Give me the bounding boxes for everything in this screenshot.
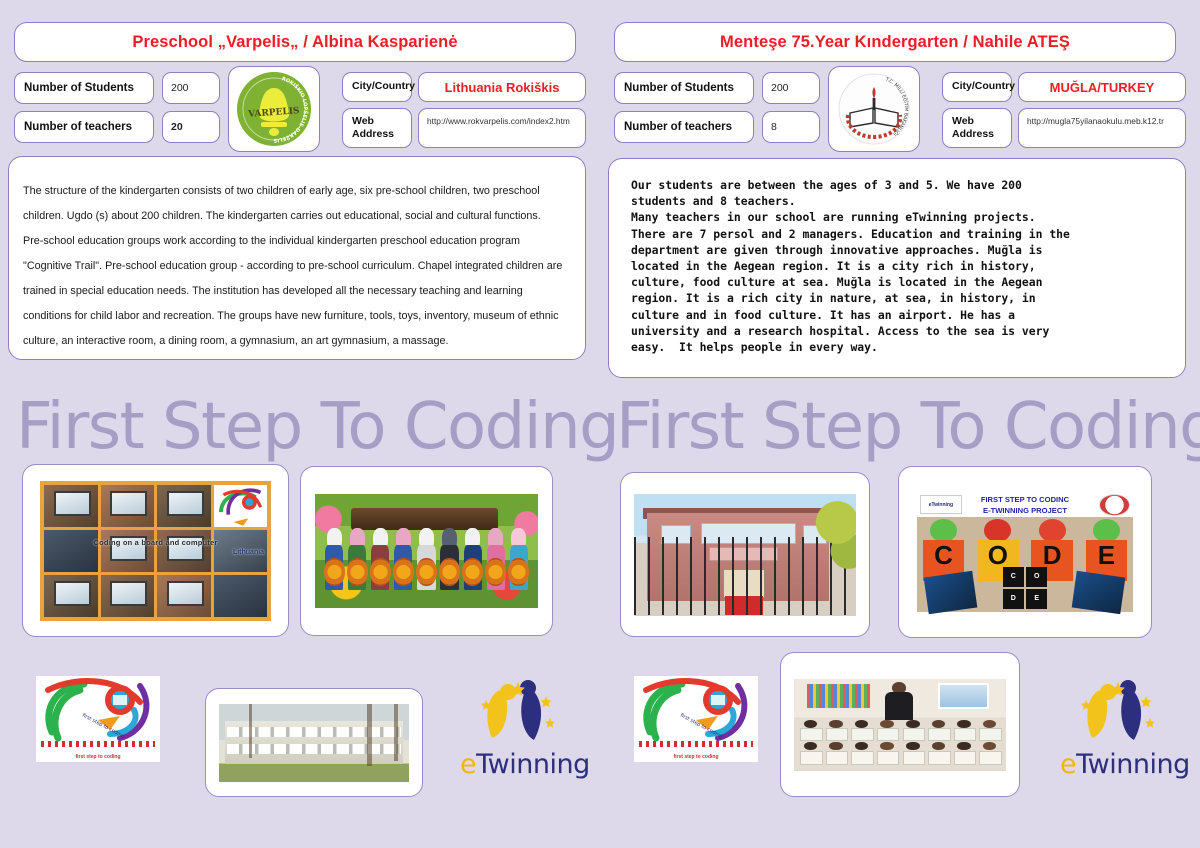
watermark-lithuania: First Step To Coding	[16, 392, 600, 462]
turkish-ministry-of-education-emblem: T.C. MİLLÎ EĞİTİM BAKANLIĞI	[828, 66, 920, 152]
classroom-certificates-photo	[794, 679, 1006, 771]
page-title-turkey: Menteşe 75.Year Kındergarten / Nahile AT…	[720, 33, 1070, 52]
collage-inline-project-logo	[214, 485, 268, 527]
first-step-to-coding-project-logo: first step to coding first step to codin…	[36, 676, 160, 762]
info-grid-lithuania: Number of Students 200 Number of teacher…	[14, 70, 586, 154]
description-card-lithuania: The structure of the kindergarten consis…	[8, 156, 586, 360]
etwinning-logo: eTwinning	[460, 680, 578, 780]
value-number-of-teachers-lt: 20	[162, 111, 220, 143]
poster-letter: D	[1026, 542, 1078, 568]
label-number-of-students-tr: Number of Students	[614, 72, 754, 104]
photo-frame-coding-collage: Coding on a board and computer Lithuania	[22, 464, 289, 637]
value-city-country-tr: MUĞLA/TURKEY	[1018, 72, 1186, 102]
value-number-of-teachers-tr: 8	[762, 111, 820, 143]
panel-title-card-turkey: Menteşe 75.Year Kındergarten / Nahile AT…	[614, 22, 1176, 62]
poster-tile: C	[1003, 567, 1024, 587]
collage-caption: Coding on a board and computer	[63, 538, 248, 547]
poster-title-line1: FIRST STEP TO CODINC	[962, 494, 1087, 505]
watermark-turkey: First Step To Coding	[616, 392, 1200, 462]
coding-collage-photo: Coding on a board and computer Lithuania	[40, 481, 271, 621]
value-number-of-students-tr: 200	[762, 72, 820, 104]
poster-tile: O	[1026, 567, 1047, 587]
page-title-lithuania: Preschool „Varpelis„ / Albina Kasparienė	[132, 33, 457, 52]
etwinning-wordmark: eTwinning	[460, 749, 578, 780]
label-city-country-tr: City/Country	[942, 72, 1012, 102]
lithuania-school-building-photo	[219, 704, 409, 782]
photo-frame-children-flowers	[300, 466, 553, 636]
project-logo-caption: first step to coding	[36, 754, 160, 760]
poster-tile: E	[1026, 589, 1047, 609]
collage-country-label: Lithuania	[233, 549, 264, 556]
photo-frame-code-poster: eTwinning FIRST STEP TO CODINC E-TWINNIN…	[898, 466, 1152, 638]
label-number-of-teachers-lt: Number of teachers	[14, 111, 154, 143]
varpelis-school-logo: VARPELIS ROKIŠKIO LOPŠELIS-DARŽELIS	[228, 66, 320, 152]
poster-school-emblem-icon	[1099, 494, 1130, 516]
photo-frame-turkey-building	[620, 472, 870, 637]
label-web-address-tr: WebAddress	[942, 108, 1012, 148]
label-web-address-lt: WebAddress	[342, 108, 412, 148]
description-text-turkey: Our students are between the ages of 3 a…	[631, 177, 1169, 355]
poster-letter: C	[917, 542, 969, 568]
poster-code-tiles: C O D E	[1003, 567, 1048, 609]
turkey-school-building-photo	[634, 494, 856, 616]
value-web-address-tr[interactable]: http://mugla75yilanaokulu.meb.k12.tr	[1018, 108, 1186, 148]
etwinning-logo: eTwinning	[1060, 680, 1178, 780]
poster-letter: E	[1080, 542, 1132, 568]
info-grid-turkey: Number of Students 200 Number of teacher…	[614, 70, 1186, 154]
description-card-turkey: Our students are between the ages of 3 a…	[608, 158, 1186, 378]
label-number-of-students-lt: Number of Students	[14, 72, 154, 104]
panel-title-card-lithuania: Preschool „Varpelis„ / Albina Kasparienė	[14, 22, 576, 62]
etwinning-wordmark: eTwinning	[1060, 749, 1178, 780]
value-city-country-lt: Lithuania Rokiškis	[418, 72, 586, 102]
panel-turkey: Menteşe 75.Year Kındergarten / Nahile AT…	[600, 0, 1200, 848]
photo-frame-lithuania-building	[205, 688, 423, 797]
poster-tile: D	[1003, 589, 1024, 609]
photo-frame-classroom	[780, 652, 1020, 797]
project-logo-caption: first step to coding	[634, 754, 758, 760]
code-project-poster-photo: eTwinning FIRST STEP TO CODINC E-TWINNIN…	[913, 490, 1137, 614]
panel-lithuania: Preschool „Varpelis„ / Albina Kasparienė…	[0, 0, 600, 848]
first-step-to-coding-project-logo: first step to coding first step to codin…	[634, 676, 758, 762]
label-city-country-lt: City/Country	[342, 72, 412, 102]
description-text-lithuania: The structure of the kindergarten consis…	[23, 179, 563, 354]
poster-letter: O	[972, 542, 1024, 568]
value-number-of-students-lt: 200	[162, 72, 220, 104]
poster-title-line2: E-TWINNING PROJECT	[962, 505, 1087, 516]
poster-title: FIRST STEP TO CODINC E-TWINNING PROJECT	[962, 494, 1087, 517]
children-with-flowers-photo	[315, 494, 538, 608]
label-number-of-teachers-tr: Number of teachers	[614, 111, 754, 143]
brochure-page: Preschool „Varpelis„ / Albina Kasparienė…	[0, 0, 1200, 848]
poster-etwinning-badge: eTwinning	[920, 495, 962, 514]
value-web-address-lt[interactable]: http://www.rokvarpelis.com/index2.htm	[418, 108, 586, 148]
